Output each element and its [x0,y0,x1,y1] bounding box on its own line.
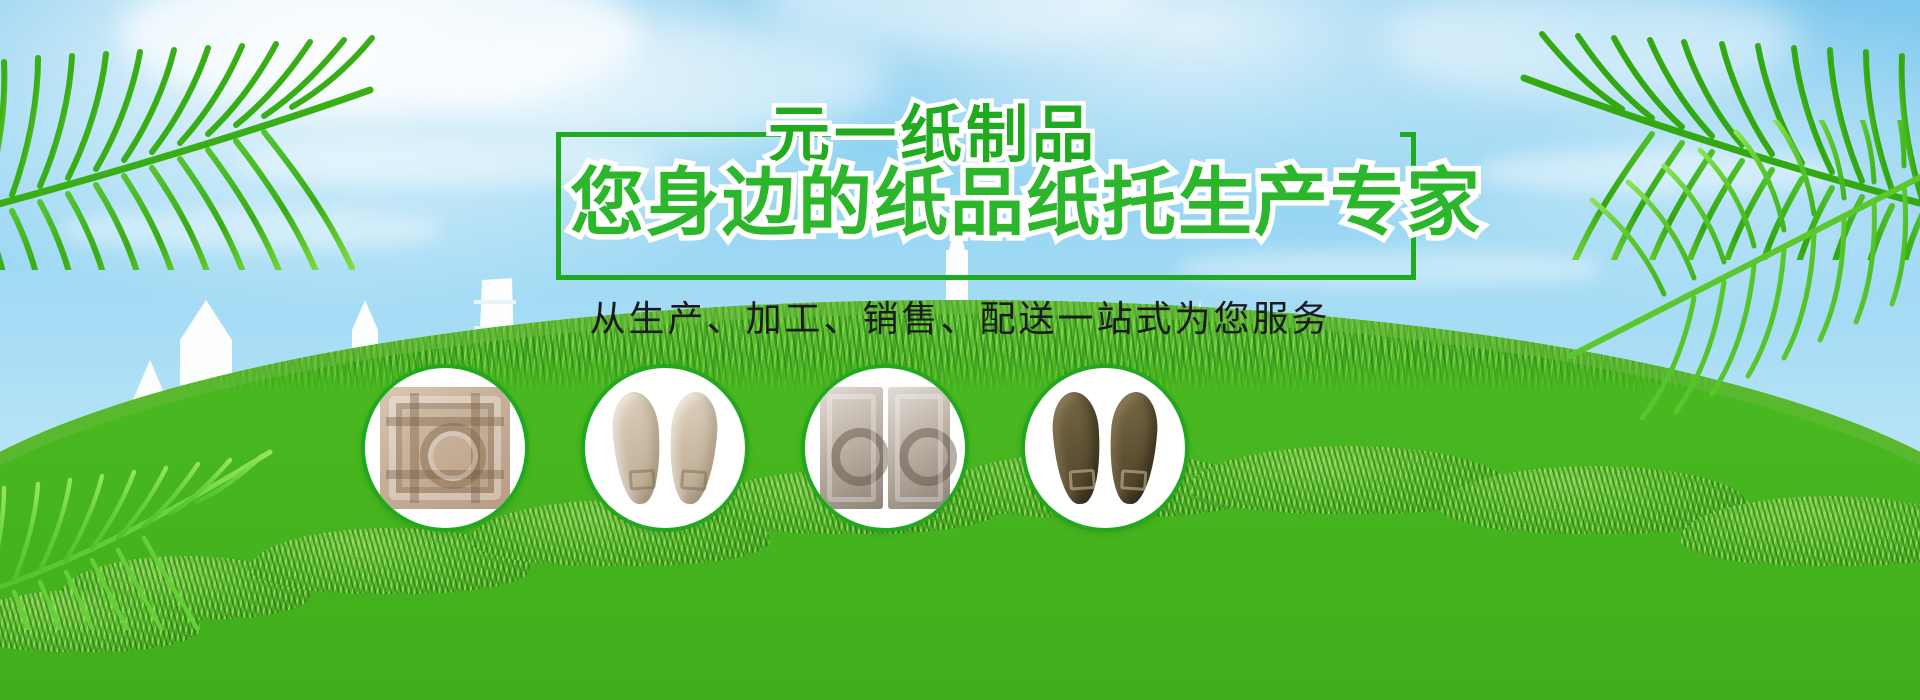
tray-b [888,387,951,509]
product-circle-pulp-shoe-trees-dark[interactable] [1021,364,1189,532]
molded-pulp-tray-pair-icon [820,387,950,509]
banner-subtitle: 从生产、加工、销售、配送一站式为您服务 [589,290,1330,342]
product-thumb [820,387,950,509]
pulp-shoe-trees-light-icon [600,387,730,509]
product-circle-molded-pulp-tray[interactable] [361,364,529,532]
page-title-line2: 您身边的纸品纸托生产专家 [570,166,1482,240]
product-thumb [380,387,510,509]
shoe-left [610,391,664,506]
product-circle-molded-pulp-tray-pair[interactable] [801,364,969,532]
product-circle-pulp-shoe-trees-light[interactable] [581,364,749,532]
pulp-shoe-trees-dark-icon [1040,387,1170,509]
promo-banner: 元一纸制品 您身边的纸品纸托生产专家 从生产、加工、销售、配送一站式为您服务 [0,0,1920,700]
page-title-line1: 元一纸制品 [768,104,1098,166]
product-thumb [600,387,730,509]
shoe-left [1050,391,1104,506]
title-frame-top-right-rule [1400,132,1416,137]
title-block: 元一纸制品 您身边的纸品纸托生产专家 [556,100,1416,280]
shoe-right [666,391,720,506]
tray-a [820,387,883,509]
molded-pulp-tray-icon [380,387,510,509]
product-thumb [1040,387,1170,509]
shoe-right [1106,391,1160,506]
